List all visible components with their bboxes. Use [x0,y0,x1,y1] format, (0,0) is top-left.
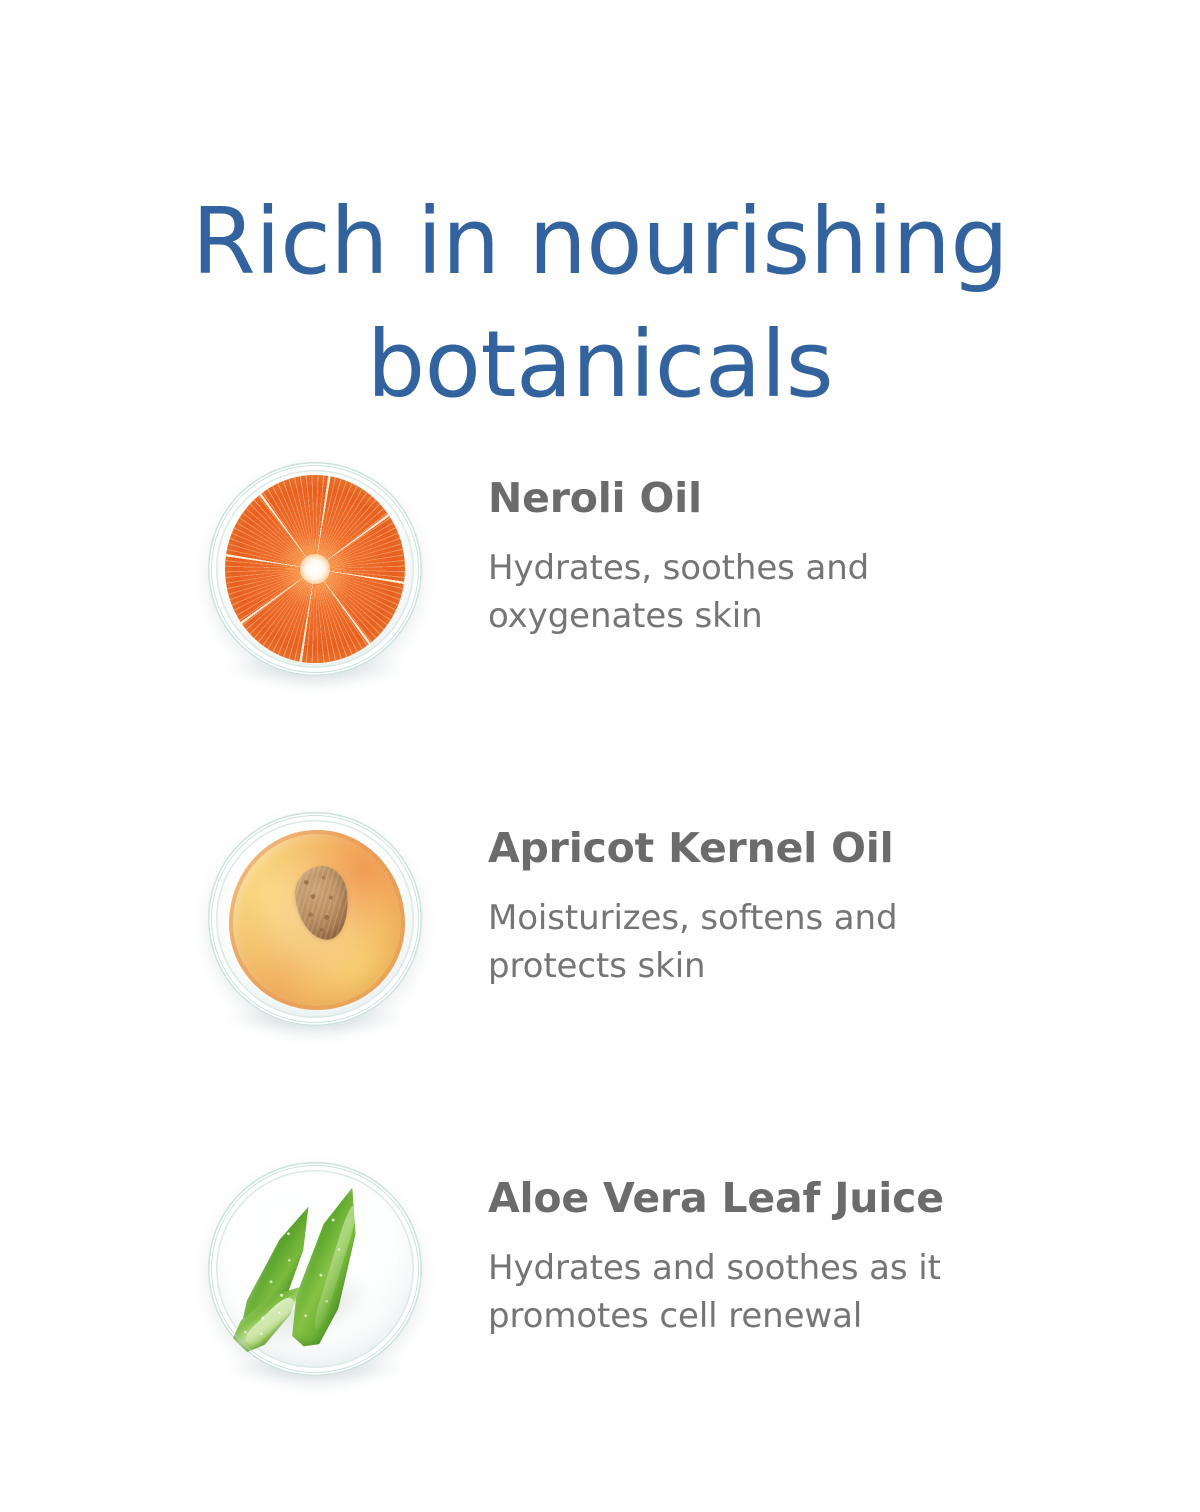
ingredient-description: Hydrates and soothes as it promotes cell… [488,1244,958,1341]
page-headline: Rich in nourishing botanicals [0,180,1200,427]
apricot-kernel-oil-text: Apricot Kernel Oil Moisturizes, softens … [488,826,1108,990]
orange-slice-icon [208,462,422,676]
petri-dish-icon [208,1162,422,1376]
aloe-vera-leaf-juice-text: Aloe Vera Leaf Juice Hydrates and soothe… [488,1176,1108,1340]
ingredients-infographic: Rich in nourishing botanicals [0,0,1200,1500]
ingredient-list: Neroli Oil Hydrates, soothes and oxygena… [0,462,1200,1512]
headline-line-2: botanicals [0,303,1200,426]
ingredient-row-apricot-kernel-oil: Apricot Kernel Oil Moisturizes, softens … [0,812,1200,1162]
orange-center-core [300,554,330,584]
neroli-oil-text: Neroli Oil Hydrates, soothes and oxygena… [488,476,1108,640]
ingredient-row-neroli-oil: Neroli Oil Hydrates, soothes and oxygena… [0,462,1200,812]
ingredient-description: Hydrates, soothes and oxygenates skin [488,544,958,641]
orange-slice-body [225,475,405,663]
apricot-half-icon [208,812,422,1026]
ingredient-name: Neroli Oil [488,476,1108,522]
apricot-kernel-oil-image [208,812,422,1026]
apricot-pit-texture [292,863,351,942]
ingredient-row-aloe-vera-leaf-juice: Aloe Vera Leaf Juice Hydrates and soothe… [0,1162,1200,1512]
aloe-leaf-group [208,1162,422,1376]
petri-dish-icon [208,812,422,1026]
aloe-vera-leaf-juice-image [208,1162,422,1376]
neroli-oil-image [208,462,422,676]
petri-dish-icon [208,462,422,676]
aloe-vera-icon [208,1162,422,1376]
headline-line-1: Rich in nourishing [0,180,1200,303]
apricot-kernel-pit [292,863,351,942]
ingredient-description: Moisturizes, softens and protects skin [488,894,958,991]
ingredient-name: Apricot Kernel Oil [488,826,1108,872]
ingredient-name: Aloe Vera Leaf Juice [488,1176,1108,1222]
apricot-body [229,830,405,1010]
